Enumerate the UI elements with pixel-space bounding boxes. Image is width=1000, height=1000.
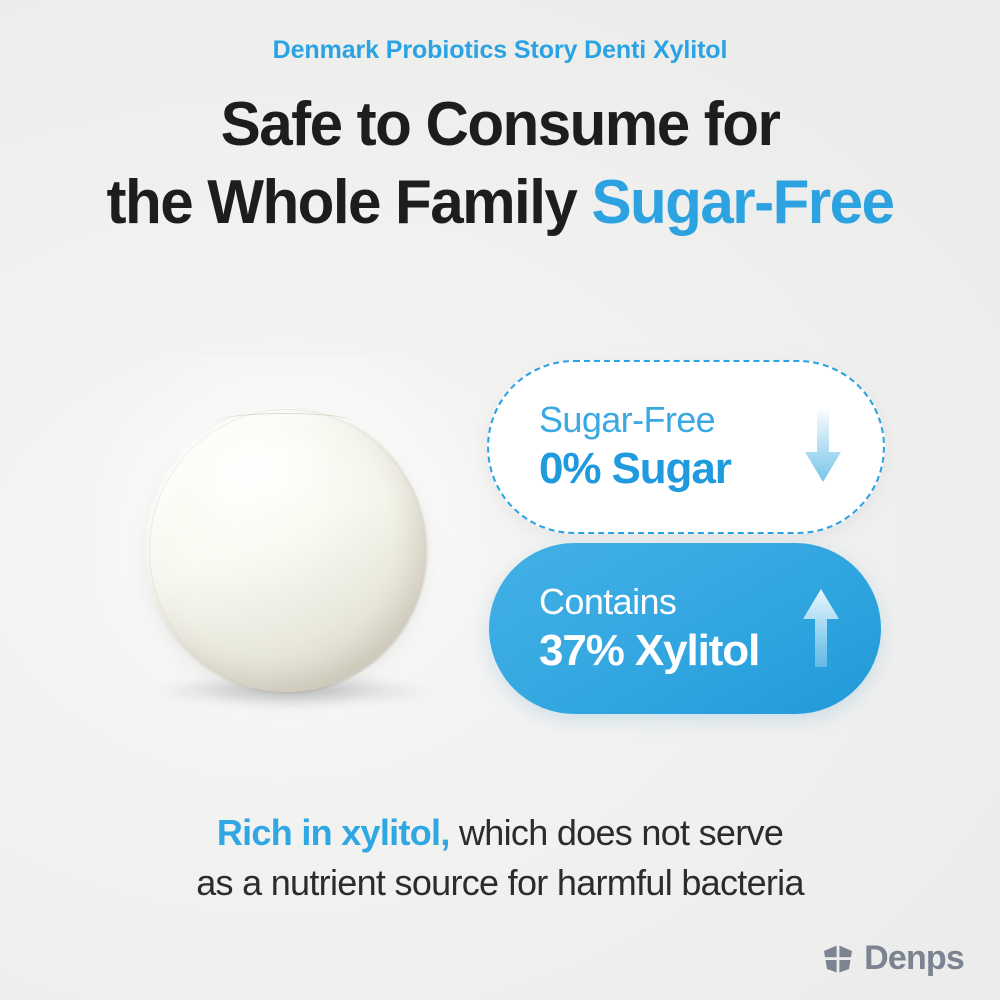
caption-line-2: as a nutrient source for harmful bacteri… bbox=[0, 858, 1000, 908]
callout-contains-xylitol-text: Contains 37% Xylitol bbox=[539, 580, 759, 678]
tablet-highlight bbox=[171, 421, 339, 517]
page-title: Safe to Consume for the Whole Family Sug… bbox=[15, 86, 985, 242]
arrow-up-icon bbox=[801, 587, 841, 671]
headline-line-2: the Whole Family Sugar-Free bbox=[15, 164, 985, 242]
callout-sugar-free: Sugar-Free 0% Sugar bbox=[487, 360, 885, 534]
callout-contains-xylitol: Contains 37% Xylitol bbox=[489, 543, 881, 714]
caption-line-1: Rich in xylitol, which does not serve bbox=[0, 808, 1000, 858]
callout-sugar-free-label: Sugar-Free bbox=[539, 398, 731, 442]
eyebrow-text: Denmark Probiotics Story Denti Xylitol bbox=[0, 36, 1000, 65]
headline-accent: Sugar-Free bbox=[591, 168, 893, 237]
brand-name: Denps bbox=[864, 939, 964, 978]
product-infographic: Denmark Probiotics Story Denti Xylitol S… bbox=[0, 0, 1000, 1000]
caption-accent: Rich in xylitol, bbox=[217, 812, 450, 853]
xylitol-tablet bbox=[145, 407, 427, 692]
brand-logo: Denps bbox=[821, 939, 964, 978]
headline-line-1: Safe to Consume for bbox=[15, 86, 985, 164]
product-image bbox=[95, 355, 495, 755]
caption-line-1-plain: which does not serve bbox=[450, 812, 784, 853]
callout-contains-label: Contains bbox=[539, 580, 759, 624]
callout-sugar-free-value: 0% Sugar bbox=[539, 442, 731, 496]
callout-sugar-free-text: Sugar-Free 0% Sugar bbox=[539, 398, 731, 496]
denps-shield-icon bbox=[821, 942, 855, 976]
arrow-down-icon bbox=[803, 408, 843, 486]
footer-caption: Rich in xylitol, which does not serve as… bbox=[0, 808, 1000, 908]
callout-contains-value: 37% Xylitol bbox=[539, 624, 759, 678]
headline-line-2-plain: the Whole Family bbox=[107, 168, 592, 237]
